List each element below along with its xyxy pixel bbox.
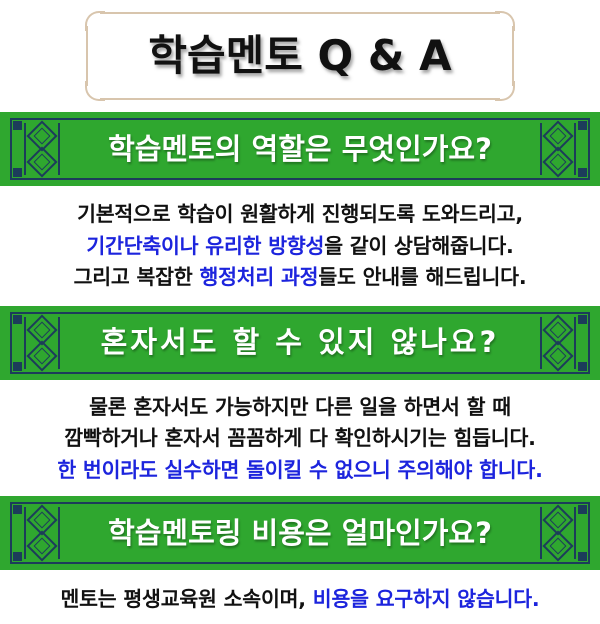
answer-text-segment: 멘토는 평생교육원 소속이며, (60, 587, 312, 611)
answer-block-3: 멘토는 평생교육원 소속이며, 비용을 요구하지 않습니다. (0, 570, 600, 616)
banner-corner-square-icon (578, 505, 587, 514)
answer-line: 그리고 복잡한 행정처리 과정들도 안내를 해드립니다. (0, 262, 600, 294)
answer-text-segment: 기간단축이나 유리한 방향성 (86, 234, 324, 258)
title-frame: 학습멘토 Q & A (86, 12, 514, 100)
diamond-icon (542, 505, 573, 536)
answer-text-segment: 들도 안내를 해드립니다. (318, 265, 526, 289)
diamond-ornament-right-icon (540, 507, 576, 559)
question-text-1: 학습멘토의 역할은 무엇인가요? (108, 135, 492, 164)
answer-text-segment: 물론 혼자서도 가능하지만 다른 일을 하면서 할 때 (89, 395, 511, 419)
frame-corner-top-right-icon (495, 11, 515, 31)
banner-corner-square-icon (13, 168, 22, 177)
answer-line: 깜빡하거나 혼자서 꼼꼼하게 다 확인하시기는 힘듭니다. (0, 423, 600, 455)
frame-corner-bottom-right-icon (495, 81, 515, 101)
question-banner-1: 학습멘토의 역할은 무엇인가요? (0, 112, 600, 186)
frame-corner-top-left-icon (85, 11, 105, 31)
qa-infographic: 학습멘토 Q & A 학습멘토의 역할은 무엇인가요? 기본적으로 학습이 원활… (0, 0, 600, 624)
banner-corner-square-icon (578, 552, 587, 561)
answer-text-segment: 그리고 복잡한 (74, 265, 200, 289)
answer-line: 한 번이라도 실수하면 돌이킬 수 없으니 주의해야 합니다. (0, 455, 600, 487)
diamond-icon (542, 314, 573, 345)
diamond-ornament-left-icon (24, 507, 60, 559)
banner-corner-square-icon (13, 505, 22, 514)
diamond-icon (542, 531, 573, 562)
banner-corner-square-icon (578, 121, 587, 130)
title-section: 학습멘토 Q & A (0, 0, 600, 112)
frame-edge-bottom (100, 98, 500, 100)
answer-text-segment: 행정처리 과정 (199, 265, 318, 289)
diamond-icon (542, 340, 573, 371)
page-title: 학습멘토 Q & A (148, 35, 451, 77)
banner-corner-square-icon (578, 168, 587, 177)
banner-corner-square-icon (13, 121, 22, 130)
answer-text-segment: 깜빡하거나 혼자서 꼼꼼하게 다 확인하시기는 힘듭니다. (64, 426, 535, 450)
answer-line: 기본적으로 학습이 원활하게 진행되도록 도와드리고, (0, 199, 600, 231)
question-text-2: 혼자서도 할 수 있지 않나요? (101, 328, 500, 357)
diamond-ornament-left-icon (24, 123, 60, 175)
banner-corner-square-icon (13, 315, 22, 324)
banner-corner-square-icon (578, 315, 587, 324)
question-banner-3: 학습멘토링 비용은 얼마인가요? (0, 496, 600, 570)
diamond-ornament-left-icon (24, 317, 60, 369)
answer-line: 물론 혼자서도 가능하지만 다른 일을 하면서 할 때 (0, 392, 600, 424)
frame-corner-bottom-left-icon (85, 81, 105, 101)
frame-edge-right (512, 26, 514, 86)
frame-edge-left (86, 26, 88, 86)
diamond-icon (26, 120, 57, 151)
question-banner-2: 혼자서도 할 수 있지 않나요? (0, 306, 600, 380)
banner-corner-square-icon (578, 362, 587, 371)
answer-text-segment: 을 같이 상담해줍니다. (324, 234, 513, 258)
diamond-icon (26, 314, 57, 345)
banner-corner-square-icon (13, 362, 22, 371)
answer-text-segment: 한 번이라도 실수하면 돌이킬 수 없으니 주의해야 합니다. (57, 458, 542, 482)
diamond-ornament-right-icon (540, 317, 576, 369)
diamond-icon (26, 505, 57, 536)
diamond-ornament-right-icon (540, 123, 576, 175)
diamond-icon (26, 531, 57, 562)
answer-line: 기간단축이나 유리한 방향성을 같이 상담해줍니다. (0, 231, 600, 263)
diamond-icon (542, 146, 573, 177)
answer-block-1: 기본적으로 학습이 원활하게 진행되도록 도와드리고, 기간단축이나 유리한 방… (0, 186, 600, 306)
diamond-icon (542, 120, 573, 151)
diamond-icon (26, 340, 57, 371)
answer-text-segment: 비용을 요구하지 않습니다. (313, 587, 540, 611)
answer-block-2: 물론 혼자서도 가능하지만 다른 일을 하면서 할 때 깜빡하거나 혼자서 꼼꼼… (0, 380, 600, 497)
banner-corner-square-icon (13, 552, 22, 561)
frame-edge-top (100, 12, 500, 14)
answer-text-segment: 기본적으로 학습이 원활하게 진행되도록 도와드리고, (77, 202, 523, 226)
diamond-icon (26, 146, 57, 177)
answer-line: 멘토는 평생교육원 소속이며, 비용을 요구하지 않습니다. (0, 584, 600, 616)
question-text-3: 학습멘토링 비용은 얼마인가요? (108, 519, 492, 548)
